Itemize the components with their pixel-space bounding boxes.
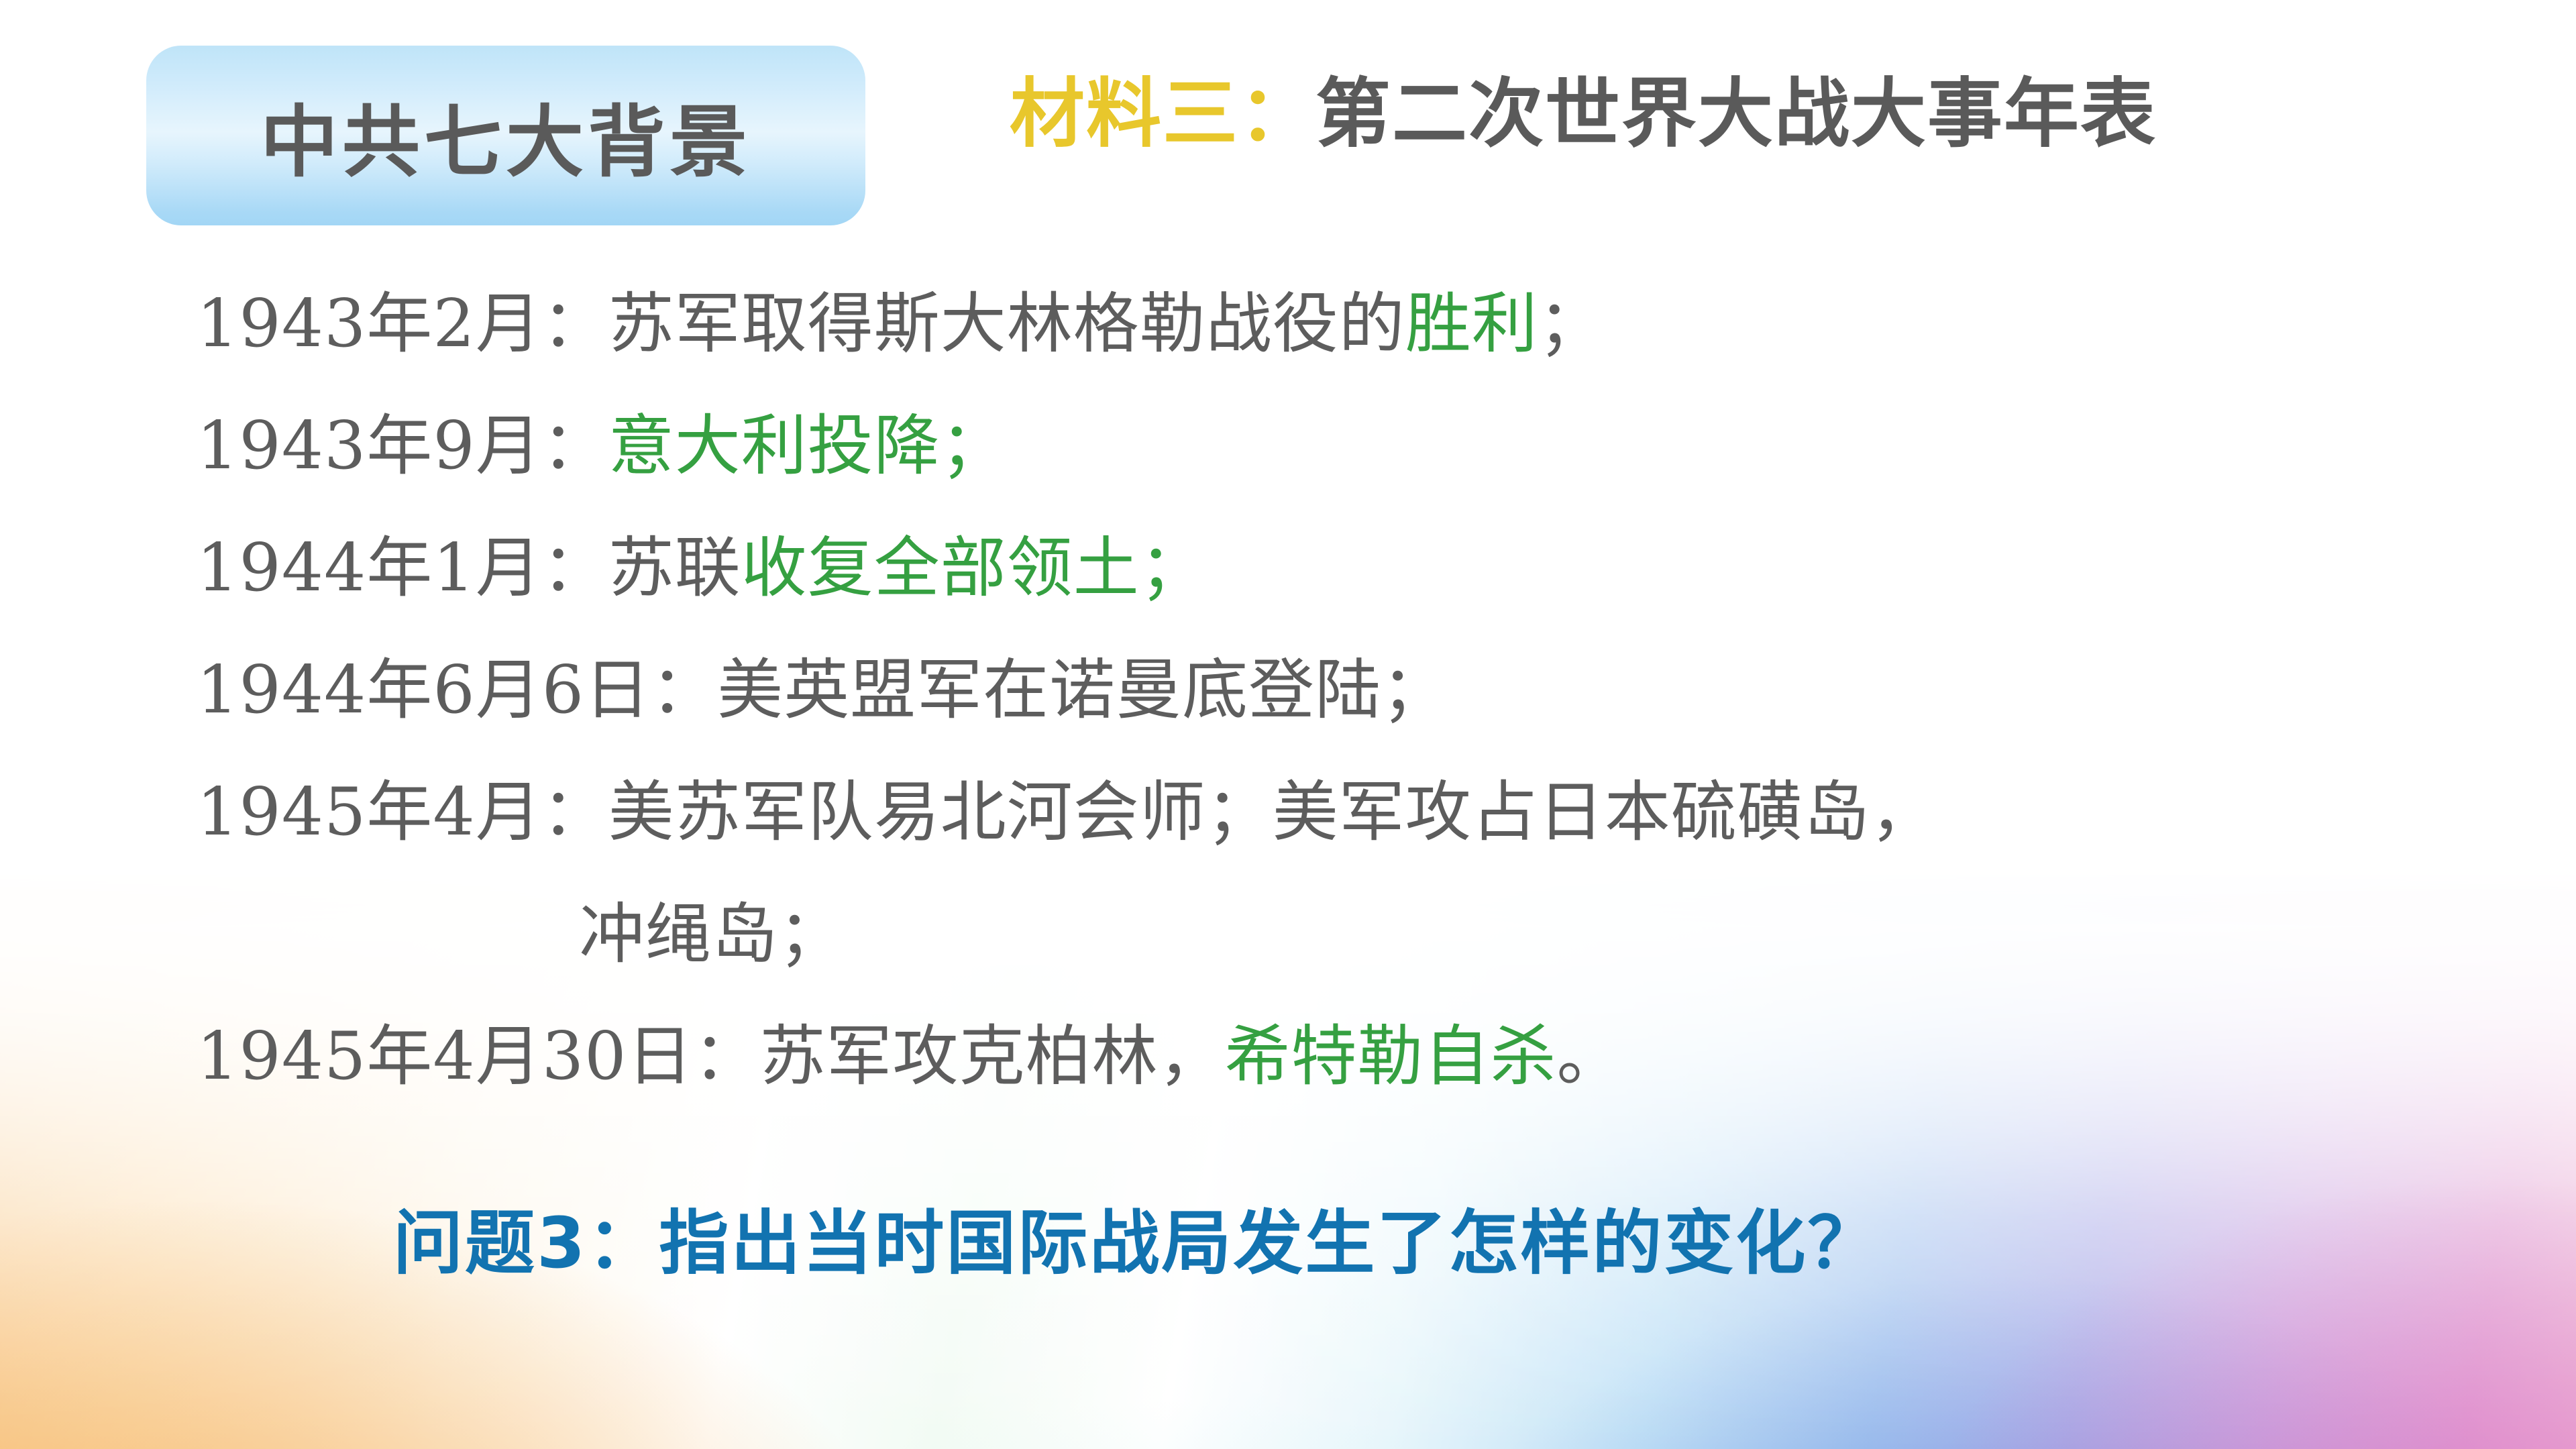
timeline-entry: 1943年9月：意大利投降； xyxy=(197,385,2444,507)
timeline-entry: 1945年4月30日：苏军攻克柏林，希特勒自杀。 xyxy=(197,996,2444,1118)
timeline-highlight-text: 收复全部领土； xyxy=(741,530,1206,606)
timeline-text: 冲绳岛； xyxy=(579,896,845,973)
timeline-list: 1943年2月：苏军取得斯大林格勒战役的胜利；1943年9月：意大利投降；194… xyxy=(197,263,2444,1118)
timeline-entry: 1944年1月：苏联收复全部领土； xyxy=(197,507,2444,629)
timeline-entry: 1945年4月：美苏军队易北河会师；美军攻占日本硫磺岛， xyxy=(197,751,2444,873)
timeline-text: 1945年4月30日：苏军攻克柏林， xyxy=(197,1018,1224,1095)
page-title-source-label: 材料三： xyxy=(1010,70,1316,158)
timeline-entry: 冲绳岛； xyxy=(197,873,2444,996)
timeline-text: 1945年4月：美苏军队易北河会师；美军攻占日本硫磺岛， xyxy=(197,774,1937,851)
timeline-text: 1944年1月：苏联 xyxy=(197,530,741,606)
timeline-highlight-text: 希特勒自杀 xyxy=(1224,1018,1556,1095)
timeline-highlight-text: 意大利投降； xyxy=(608,408,1007,484)
slide-canvas: 中共七大背景 材料三：第二次世界大战大事年表 1943年2月：苏军取得斯大林格勒… xyxy=(0,0,2576,1449)
timeline-entry: 1944年6月6日：美英盟军在诺曼底登陆； xyxy=(197,629,2444,751)
timeline-text: 。 xyxy=(1556,1018,1623,1095)
page-title-main-label: 第二次世界大战大事年表 xyxy=(1316,70,2157,158)
question-prompt: 问题3：指出当时国际战局发生了怎样的变化？ xyxy=(393,1186,1879,1287)
timeline-text: 1944年6月6日：美英盟军在诺曼底登陆； xyxy=(197,652,1448,729)
timeline-text: 1943年2月：苏军取得斯大林格勒战役的 xyxy=(197,286,1405,362)
section-badge-label: 中共七大背景 xyxy=(146,46,865,225)
timeline-text: ； xyxy=(1538,286,1605,362)
timeline-entry: 1943年2月：苏军取得斯大林格勒战役的胜利； xyxy=(197,263,2444,385)
timeline-highlight-text: 胜利 xyxy=(1405,286,1538,362)
page-title: 材料三：第二次世界大战大事年表 xyxy=(1010,70,2157,158)
section-badge: 中共七大背景 xyxy=(146,46,865,225)
timeline-text: 1943年9月： xyxy=(197,408,608,484)
